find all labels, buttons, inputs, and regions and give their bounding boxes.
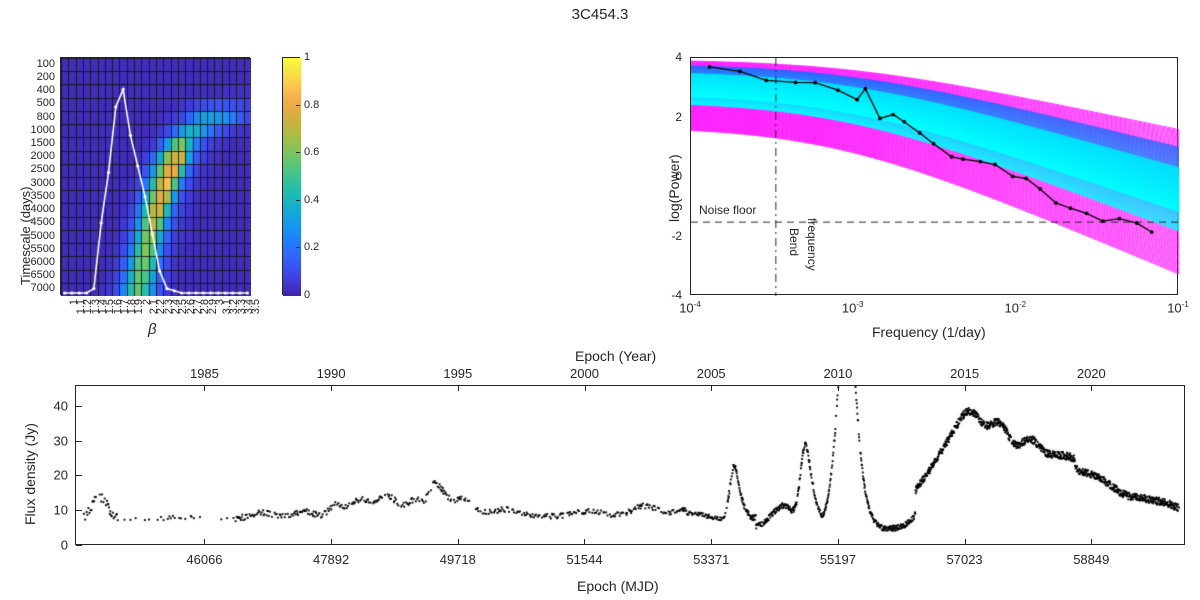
colorbar-tick-mark (296, 152, 300, 153)
tick-exponent: -2 (1019, 300, 1026, 309)
power-spectrum-y-tick: -2 (0, 229, 682, 243)
figure-root: 3C454.3 10020040050080010001500200025003… (0, 0, 1200, 600)
light-curve-year-tick: 2000 (570, 366, 599, 381)
power-spectrum-x-tick: 10-4 (679, 300, 701, 315)
light-curve-y-tick-mark (76, 545, 82, 546)
light-curve-year-tick: 2005 (697, 366, 726, 381)
power-spectrum-y-axis-label: log(Power) (666, 154, 682, 222)
light-curve-y-tick-mark (76, 441, 82, 442)
light-curve-year-tick: 1995 (443, 366, 472, 381)
power-spectrum-canvas (691, 58, 1179, 296)
heatmap-y-tick: 400 (0, 84, 55, 96)
light-curve-year-tick: 2015 (950, 366, 979, 381)
light-curve-year-tick-mark (458, 385, 459, 391)
power-spectrum-y-tick: -4 (0, 288, 682, 302)
light-curve-year-tick: 1990 (317, 366, 346, 381)
colorbar-tick: 0.4 (304, 194, 319, 206)
light-curve-mjd-tick-mark (965, 539, 966, 545)
colorbar-tick: 0.2 (304, 241, 319, 253)
light-curve-y-axis-label: Flux density (Jy) (22, 423, 38, 525)
power-spectrum-y-tick: 4 (0, 50, 682, 64)
light-curve-year-tick-mark (331, 385, 332, 391)
heatmap-x-axis-label: β (148, 321, 157, 338)
light-curve-axes (75, 385, 1185, 545)
page-title: 3C454.3 (0, 6, 1200, 23)
tick-exponent: -4 (694, 300, 701, 309)
light-curve-mjd-tick-mark (204, 539, 205, 545)
light-curve-year-tick-mark (965, 385, 966, 391)
light-curve-year-tick-mark (838, 385, 839, 391)
light-curve-year-tick-mark (711, 385, 712, 391)
light-curve-mjd-tick: 55197 (820, 552, 856, 567)
light-curve-y-tick: 0 (0, 538, 68, 553)
tick-base: 10 (679, 300, 693, 315)
heatmap-y-tick: 2000 (0, 150, 55, 162)
tick-base: 10 (1005, 300, 1019, 315)
light-curve-mjd-tick: 47892 (313, 552, 349, 567)
colorbar-tick-mark (296, 200, 300, 201)
light-curve-year-tick-mark (585, 385, 586, 391)
colorbar-tick-mark (296, 105, 300, 106)
noise-floor-annotation: Noise floor (699, 203, 756, 217)
power-spectrum-axes: Noise floor Bend frequency (690, 57, 1178, 295)
bend-frequency-annotation-line1: Bend (787, 228, 801, 256)
heatmap-y-tick: 1500 (0, 137, 55, 149)
light-curve-y-tick-mark (76, 475, 82, 476)
heatmap-y-tick: 1000 (0, 124, 55, 136)
light-curve-mjd-tick: 53371 (693, 552, 729, 567)
light-curve-y-tick: 40 (0, 398, 68, 413)
colorbar-tick-mark (296, 247, 300, 248)
tick-exponent: -3 (856, 300, 863, 309)
light-curve-mjd-tick: 46066 (186, 552, 222, 567)
power-spectrum-y-tick: 0 (0, 169, 682, 183)
heatmap-y-tick: 500 (0, 97, 55, 109)
tick-base: 10 (1167, 300, 1181, 315)
light-curve-year-tick-mark (204, 385, 205, 391)
light-curve-mjd-tick-mark (711, 539, 712, 545)
light-curve-mjd-tick-mark (1091, 539, 1092, 545)
heatmap-y-tick: 200 (0, 71, 55, 83)
light-curve-x-axis-label-top: Epoch (Year) (575, 348, 656, 364)
light-curve-mjd-tick: 51544 (566, 552, 602, 567)
power-spectrum-x-tick: 10-3 (842, 300, 864, 315)
power-spectrum-x-tick: 10-2 (1005, 300, 1027, 315)
tick-base: 10 (842, 300, 856, 315)
power-spectrum-x-tick: 10-1 (1167, 300, 1189, 315)
light-curve-mjd-tick: 49718 (440, 552, 476, 567)
light-curve-year-tick-mark (1091, 385, 1092, 391)
light-curve-mjd-tick-mark (331, 539, 332, 545)
power-spectrum-y-tick: 2 (0, 110, 682, 124)
light-curve-year-tick: 2010 (823, 366, 852, 381)
light-curve-mjd-tick: 58849 (1073, 552, 1109, 567)
light-curve-mjd-tick: 57023 (947, 552, 983, 567)
light-curve-mjd-tick-mark (458, 539, 459, 545)
light-curve-year-tick: 1985 (190, 366, 219, 381)
power-spectrum-x-axis-label: Frequency (1/day) (872, 324, 986, 340)
light-curve-x-axis-label-bottom: Epoch (MJD) (577, 578, 659, 594)
bend-frequency-annotation-line2: frequency (805, 218, 819, 271)
light-curve-mjd-tick-mark (838, 539, 839, 545)
light-curve-canvas (76, 386, 1186, 546)
colorbar-tick: 0.6 (304, 146, 319, 158)
light-curve-year-tick: 2020 (1077, 366, 1106, 381)
light-curve-mjd-tick-mark (584, 539, 585, 545)
light-curve-y-tick-mark (76, 510, 82, 511)
light-curve-y-tick-mark (76, 406, 82, 407)
tick-exponent: -1 (1182, 300, 1189, 309)
